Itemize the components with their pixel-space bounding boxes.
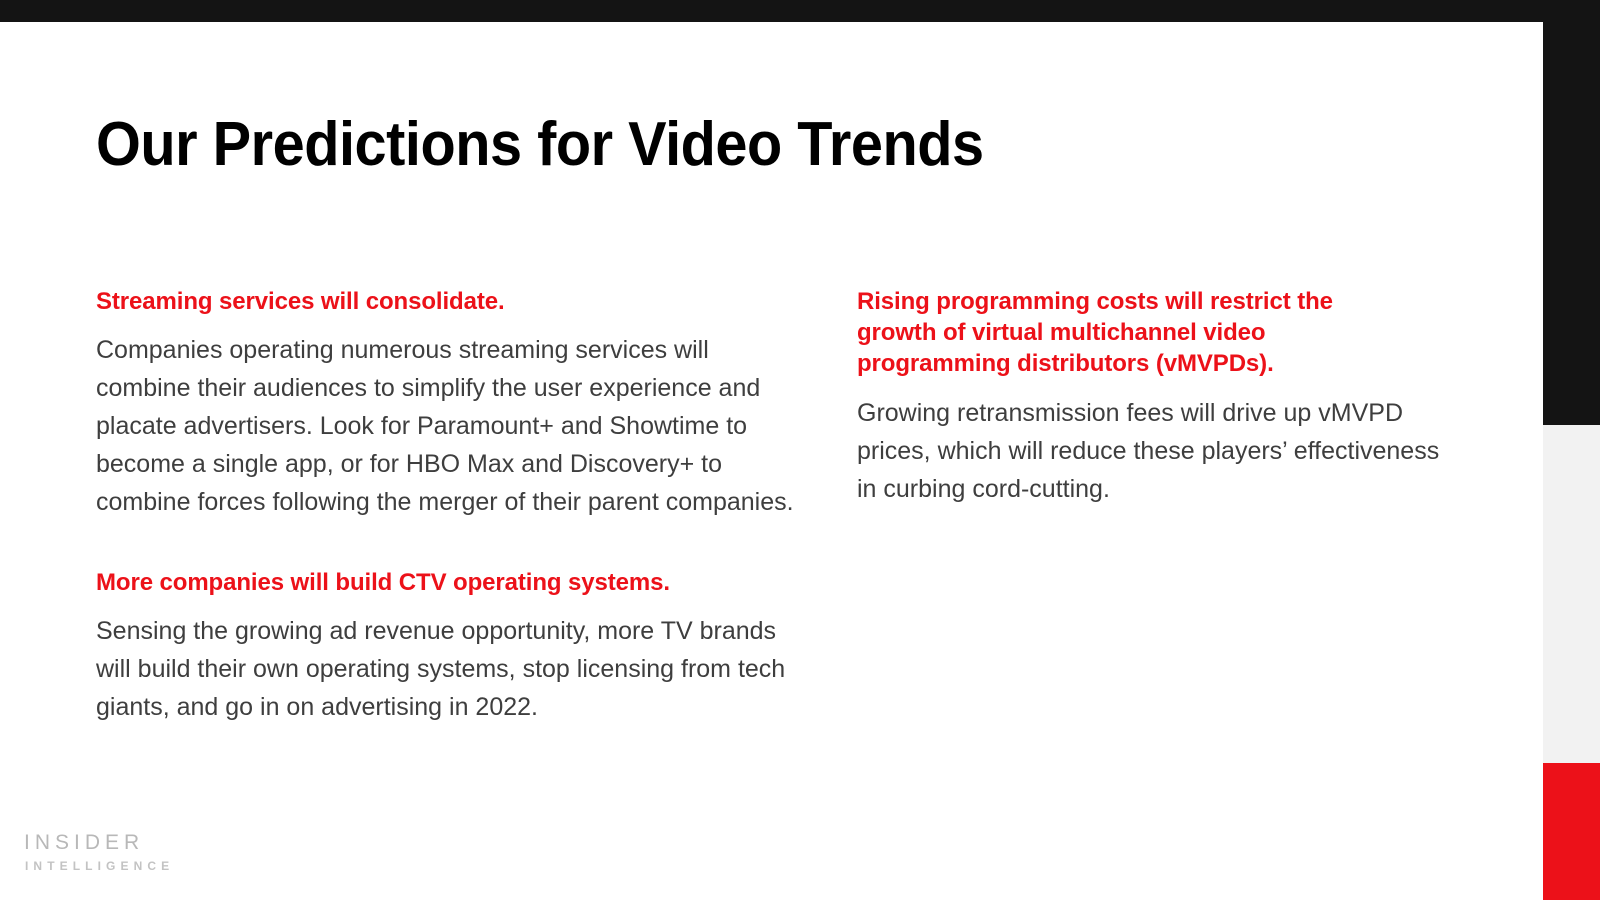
logo-primary-text: INSIDER: [24, 832, 174, 853]
page-title: Our Predictions for Video Trends: [96, 112, 1305, 177]
edge-segment-gray: [1543, 425, 1600, 763]
prediction-body: Companies operating numerous streaming s…: [96, 331, 796, 521]
edge-segment-black: [1543, 0, 1600, 425]
prediction-body: Sensing the growing ad revenue opportuni…: [96, 612, 796, 726]
prediction-heading: Rising programming costs will restrict t…: [857, 286, 1402, 380]
right-column: Rising programming costs will restrict t…: [857, 286, 1457, 508]
prediction-block: More companies will build CTV operating …: [96, 567, 806, 726]
slide-canvas: Our Predictions for Video Trends Streami…: [0, 0, 1600, 900]
prediction-block: Streaming services will consolidate. Com…: [96, 286, 806, 521]
prediction-heading: More companies will build CTV operating …: [96, 567, 806, 598]
prediction-body: Growing retransmission fees will drive u…: [857, 394, 1442, 508]
edge-segment-red: [1543, 763, 1600, 900]
right-edge-strip: [1543, 0, 1600, 900]
left-column: Streaming services will consolidate. Com…: [96, 286, 806, 726]
prediction-block: Rising programming costs will restrict t…: [857, 286, 1457, 508]
top-black-bar: [0, 0, 1600, 22]
prediction-heading: Streaming services will consolidate.: [96, 286, 806, 317]
insider-intelligence-logo: INSIDER INTELLIGENCE: [24, 832, 174, 872]
logo-secondary-text: INTELLIGENCE: [25, 860, 174, 872]
